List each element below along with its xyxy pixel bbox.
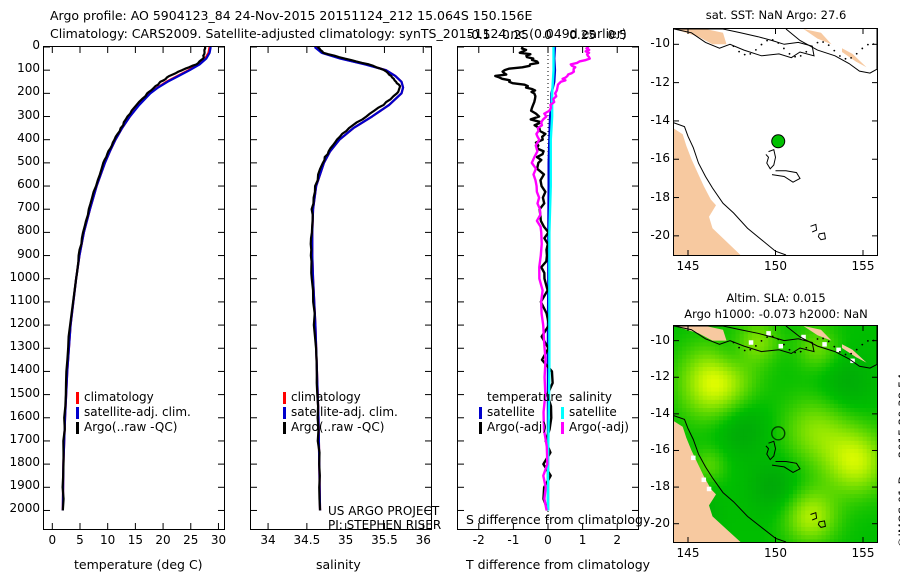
salinity-tick-label: 35.5 — [371, 533, 398, 547]
legend-item: Argo(..raw -QC) — [283, 420, 398, 435]
depth-tick-label: 200 — [17, 84, 40, 98]
map-sla-lat-label: -20 — [650, 516, 670, 530]
map-sst-lat-label: -14 — [650, 113, 670, 127]
depth-tick-label: 700 — [17, 200, 40, 214]
map-sla-axes[interactable] — [673, 325, 878, 543]
legend-difference-temperature: temperature satellite Argo(-adj) — [479, 390, 562, 435]
map-sla-lon-label: 150 — [764, 546, 787, 560]
salinity-profile-plot — [251, 47, 431, 529]
color-swatch-icon — [283, 422, 286, 434]
temperature-tick-label: 30 — [211, 533, 226, 547]
depth-tick-label: 0 — [32, 38, 40, 52]
map-sla-lat-label: -16 — [650, 442, 670, 456]
project-pi: PI: STEPHEN RISER — [328, 518, 441, 532]
map-sst-axes[interactable] — [673, 28, 878, 256]
depth-tick-label: 600 — [17, 177, 40, 191]
salinity-difference-axis-label: S difference from climatology — [466, 512, 650, 527]
depth-tick-label: 1900 — [9, 478, 40, 492]
map-sst-canvas[interactable] — [674, 29, 877, 255]
map-sst-lat-label: -16 — [650, 151, 670, 165]
legend-item: satellite-adj. clim. — [76, 405, 191, 420]
legend-label: climatology — [84, 390, 154, 405]
map-sla-lon-label: 145 — [677, 546, 700, 560]
imos-copyright: ©IMOS 01-Dec-2015 20:38:54 — [896, 373, 900, 548]
map-sla-title-line2: Argo h1000: -0.073 h2000: NaN — [666, 307, 886, 321]
legend-label: Argo(..raw -QC) — [291, 420, 384, 435]
s-diff-tick-label: 0.25 — [569, 28, 596, 42]
legend-item: satellite — [561, 405, 629, 420]
color-swatch-icon — [561, 407, 564, 419]
depth-tick-label: 400 — [17, 131, 40, 145]
legend-label: satellite — [569, 405, 617, 420]
depth-tick-label: 1400 — [9, 362, 40, 376]
map-sst-lon-label: 150 — [764, 259, 787, 273]
salinity-axis-label: salinity — [316, 557, 361, 572]
depth-tick-label: 1600 — [9, 409, 40, 423]
s-diff-tick-label: 0.5 — [608, 28, 627, 42]
legend-label: satellite — [487, 405, 535, 420]
map-sla-title-line1: Altim. SLA: 0.015 — [672, 291, 880, 305]
map-sla-canvas[interactable] — [674, 326, 877, 542]
depth-tick-label: 100 — [17, 61, 40, 75]
legend-group-title: temperature — [479, 390, 562, 405]
temperature-tick-label: 10 — [100, 533, 115, 547]
temperature-profile-plot — [44, 47, 224, 529]
map-sla-lat-label: -14 — [650, 406, 670, 420]
temperature-axis-label: temperature (deg C) — [74, 557, 203, 572]
depth-tick-label: 1700 — [9, 432, 40, 446]
color-swatch-icon — [76, 392, 79, 404]
project-name: US ARGO PROJECT — [328, 504, 441, 518]
legend-difference-salinity: salinity satellite Argo(-adj) — [561, 390, 629, 435]
color-swatch-icon — [561, 422, 564, 434]
map-sst-lon-label: 145 — [677, 259, 700, 273]
map-sla-lat-label: -12 — [650, 369, 670, 383]
color-swatch-icon — [76, 422, 79, 434]
panel-difference-axes — [457, 46, 639, 530]
map-sla-lat-label: -18 — [650, 479, 670, 493]
legend-group-title: salinity — [561, 390, 629, 405]
salinity-tick-label: 34 — [260, 533, 275, 547]
legend-label: satellite-adj. clim. — [84, 405, 191, 420]
s-diff-tick-label: -0.25 — [498, 28, 529, 42]
salinity-tick-label: 36 — [416, 533, 431, 547]
legend-item: climatology — [76, 390, 191, 405]
t-diff-tick-label: 1 — [579, 533, 587, 547]
map-sst-lat-label: -20 — [650, 228, 670, 242]
depth-tick-label: 1300 — [9, 339, 40, 353]
legend-item: satellite-adj. clim. — [283, 405, 398, 420]
color-swatch-icon — [76, 407, 79, 419]
map-sst-title: sat. SST: NaN Argo: 27.6 — [672, 8, 880, 22]
depth-tick-label: 500 — [17, 154, 40, 168]
s-diff-tick-label: 0 — [544, 28, 552, 42]
depth-tick-label: 1000 — [9, 270, 40, 284]
legend-salinity-panel: climatology satellite-adj. clim. Argo(..… — [283, 390, 398, 435]
legend-temperature-panel: climatology satellite-adj. clim. Argo(..… — [76, 390, 191, 435]
depth-tick-label: 800 — [17, 223, 40, 237]
depth-tick-label: 1800 — [9, 455, 40, 469]
depth-tick-label: 1100 — [9, 293, 40, 307]
legend-label: satellite-adj. clim. — [291, 405, 398, 420]
legend-item: Argo(-adj) — [561, 420, 629, 435]
temperature-tick-label: 0 — [48, 533, 56, 547]
panel-temperature-axes — [43, 46, 225, 530]
legend-label: Argo(-adj) — [569, 420, 629, 435]
header-line-2: Climatology: CARS2009. Satellite-adjuste… — [50, 26, 627, 41]
legend-item: climatology — [283, 390, 398, 405]
map-sst-lat-label: -18 — [650, 190, 670, 204]
color-swatch-icon — [283, 407, 286, 419]
map-sla-lon-label: 155 — [852, 546, 875, 560]
legend-item: Argo(-adj) — [479, 420, 562, 435]
map-sst-lat-label: -10 — [650, 36, 670, 50]
legend-label: Argo(-adj) — [487, 420, 547, 435]
t-diff-tick-label: 2 — [613, 533, 621, 547]
s-diff-tick-label: -0.5 — [467, 28, 490, 42]
depth-tick-label: 1500 — [9, 386, 40, 400]
map-sst-lat-label: -12 — [650, 75, 670, 89]
temperature-tick-label: 25 — [183, 533, 198, 547]
legend-label: climatology — [291, 390, 361, 405]
difference-profile-plot — [458, 47, 638, 529]
t-diff-tick-label: -1 — [507, 533, 519, 547]
map-sla-lat-label: -10 — [650, 333, 670, 347]
color-swatch-icon — [479, 422, 482, 434]
project-credit: US ARGO PROJECT PI: STEPHEN RISER — [328, 504, 441, 532]
panel-salinity-axes — [250, 46, 432, 530]
salinity-tick-label: 35 — [338, 533, 353, 547]
map-sst-lon-label: 155 — [852, 259, 875, 273]
temperature-tick-label: 15 — [128, 533, 143, 547]
salinity-tick-label: 34.5 — [294, 533, 321, 547]
temperature-tick-label: 5 — [76, 533, 84, 547]
legend-label: Argo(..raw -QC) — [84, 420, 177, 435]
color-swatch-icon — [479, 407, 482, 419]
depth-tick-label: 900 — [17, 247, 40, 261]
legend-item: Argo(..raw -QC) — [76, 420, 191, 435]
temperature-tick-label: 20 — [155, 533, 170, 547]
depth-tick-label: 1200 — [9, 316, 40, 330]
depth-tick-label: 300 — [17, 108, 40, 122]
depth-tick-label: 2000 — [9, 501, 40, 515]
t-diff-tick-label: 0 — [544, 533, 552, 547]
color-swatch-icon — [283, 392, 286, 404]
header-line-1: Argo profile: AO 5904123_84 24-Nov-2015 … — [50, 8, 532, 23]
legend-item: satellite — [479, 405, 562, 420]
t-diff-tick-label: -2 — [473, 533, 485, 547]
temperature-difference-axis-label: T difference from climatology — [466, 557, 650, 572]
